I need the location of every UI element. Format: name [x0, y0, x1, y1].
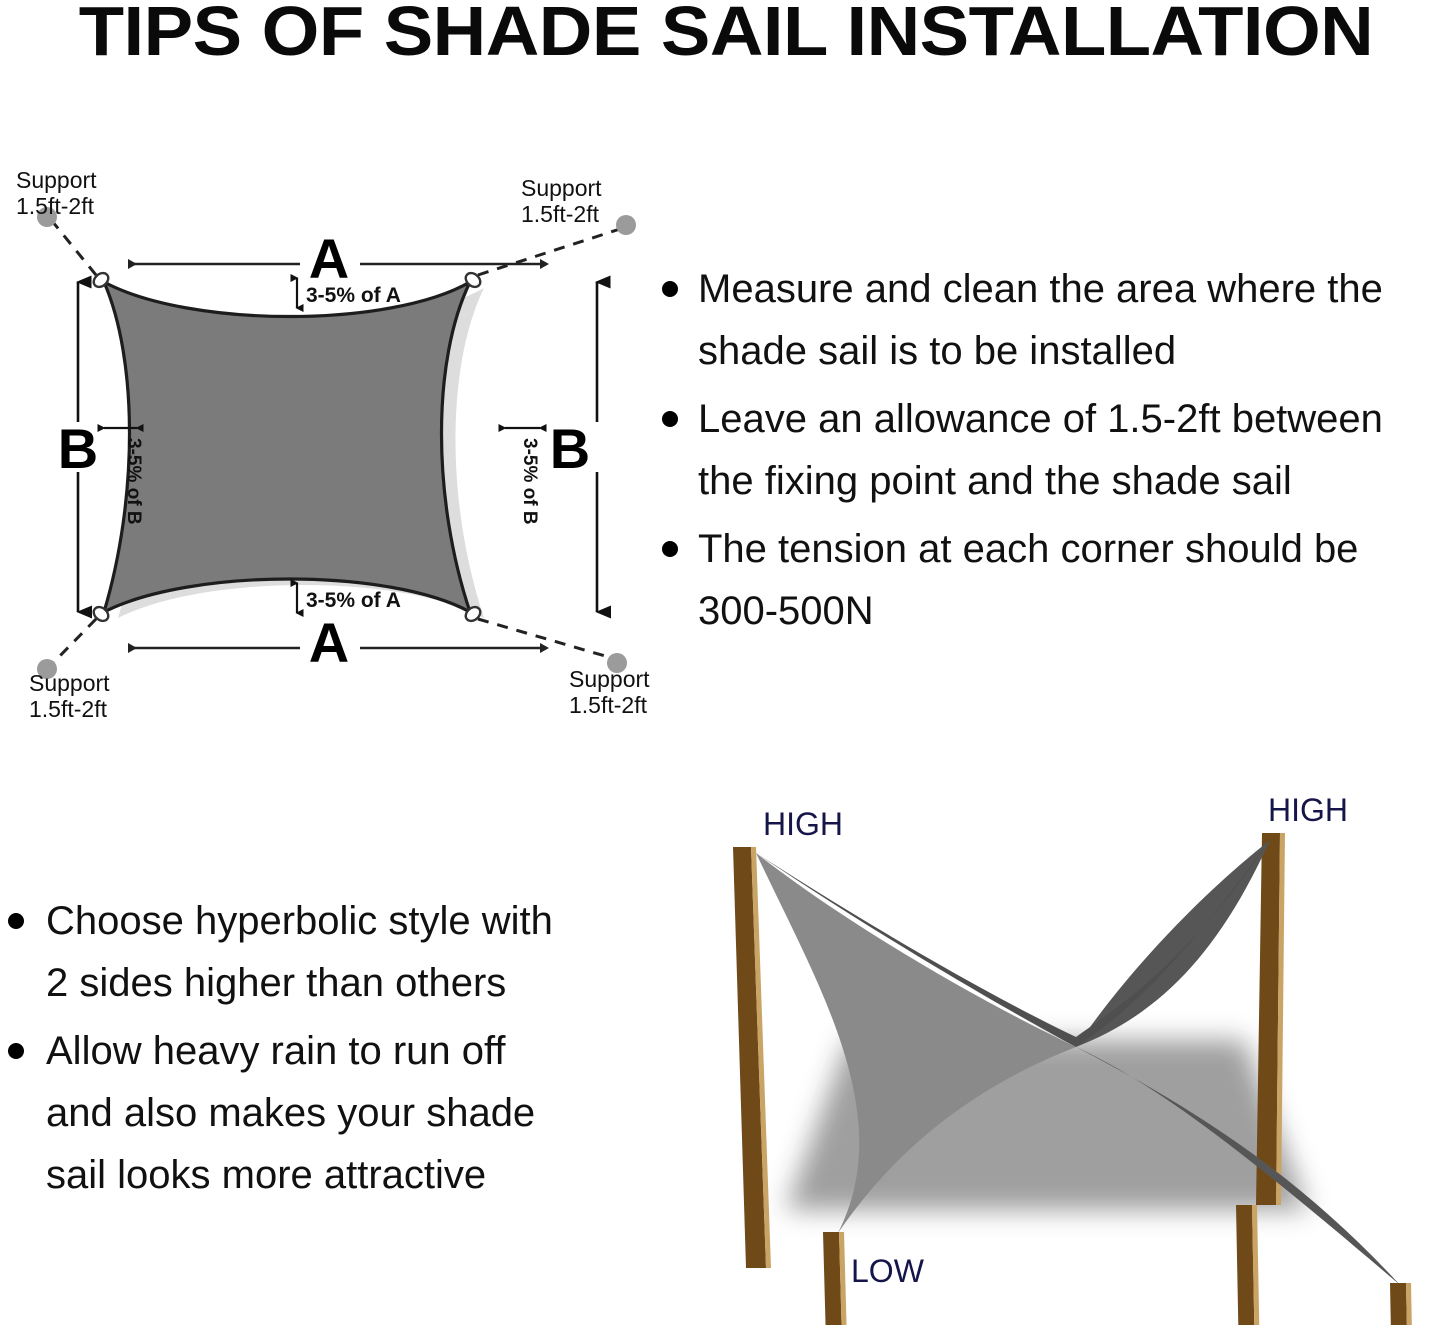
support-label-line1: Support	[29, 670, 110, 696]
installation-tips-list: Measure and clean the area where the sha…	[648, 258, 1452, 642]
dimension-label-A-top: A	[309, 227, 349, 290]
dimension-left-height: B	[58, 282, 98, 612]
style-tips-panel: Choose hyperbolic style with 2 sides hig…	[0, 890, 630, 1230]
list-item: Allow heavy rain to run off and also mak…	[0, 1020, 630, 1206]
support-label-line1: Support	[521, 175, 602, 201]
post-low-front-left	[823, 1232, 849, 1325]
list-item: Leave an allowance of 1.5-2ft between th…	[648, 388, 1452, 512]
shade-sail-shape	[104, 282, 470, 612]
support-label-top-left: Support 1.5ft-2ft	[16, 167, 97, 219]
curve-label-top: 3-5% of A	[306, 284, 401, 307]
infographic-page: TIPS OF SHADE SAIL INSTALLATION	[0, 0, 1452, 1325]
label-high-right: HIGH	[1268, 792, 1348, 828]
post-low-far-right	[1390, 1283, 1415, 1325]
list-item: Choose hyperbolic style with 2 sides hig…	[0, 890, 630, 1014]
support-label-line2: 1.5ft-2ft	[29, 696, 108, 722]
dimension-label-B-right: B	[550, 417, 590, 480]
support-label-top-right: Support 1.5ft-2ft	[521, 175, 602, 227]
dimension-label-A-bottom: A	[309, 611, 349, 674]
support-label-bottom-right: Support 1.5ft-2ft	[569, 666, 650, 718]
page-title: TIPS OF SHADE SAIL INSTALLATION	[0, 0, 1452, 66]
support-label-line2: 1.5ft-2ft	[16, 193, 95, 219]
curve-label-bottom: 3-5% of A	[306, 589, 401, 612]
support-label-line2: 1.5ft-2ft	[521, 201, 600, 227]
post-high-left	[733, 847, 771, 1268]
label-low-front: LOW	[851, 1253, 925, 1289]
installation-tips-panel: Measure and clean the area where the sha…	[648, 258, 1452, 678]
list-item: The tension at each corner should be 300…	[648, 518, 1452, 642]
dimension-label-B-left: B	[58, 417, 98, 480]
hyperbolic-sail-panel: HIGH HIGH LOW LOW	[648, 785, 1452, 1325]
list-item: Measure and clean the area where the sha…	[648, 258, 1452, 382]
curve-label-right: 3-5% of B	[519, 438, 540, 525]
support-label-bottom-left: Support 1.5ft-2ft	[29, 670, 110, 722]
support-label-line1: Support	[569, 666, 650, 692]
support-label-line1: Support	[16, 167, 97, 193]
curve-label-left: 3-5% of B	[123, 438, 144, 525]
support-label-line2: 1.5ft-2ft	[569, 692, 648, 718]
dimension-right-sag: 3-5% of B	[505, 428, 540, 525]
post-high-right	[1256, 833, 1285, 1205]
dimension-left-sag: 3-5% of B	[104, 428, 144, 525]
dimension-right-height: B	[550, 282, 597, 612]
rect-sail-diagram-panel: Support 1.5ft-2ft Support 1.5ft-2ft Supp…	[0, 160, 650, 750]
post-support-rear-right	[1236, 1205, 1261, 1325]
style-tips-list: Choose hyperbolic style with 2 sides hig…	[0, 890, 630, 1206]
label-high-left: HIGH	[763, 806, 843, 842]
